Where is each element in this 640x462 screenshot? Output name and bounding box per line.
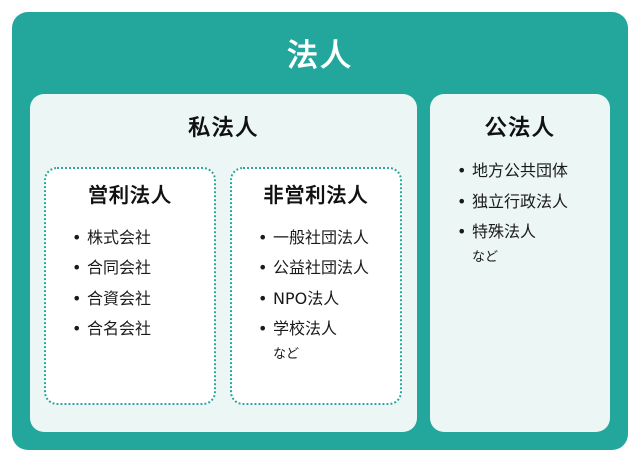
panels-row: 私法人 営利法人 株式会社 合同会社 合資会社 合名会社 — [30, 94, 610, 432]
diagram-canvas: 法人 私法人 営利法人 株式会社 合同会社 合資会社 合名会社 — [0, 0, 640, 462]
subcard-non-profit: 非営利法人 一般社団法人 公益社団法人 NPO法人 学校法人 など — [230, 167, 402, 405]
public-corporation-etc-label: など — [457, 248, 610, 269]
list-item: 一般社団法人 — [258, 223, 400, 253]
list-item: 地方公共団体 — [457, 156, 610, 186]
panel-public-title: 公法人 — [430, 94, 610, 142]
corporation-root-box: 法人 私法人 営利法人 株式会社 合同会社 合資会社 合名会社 — [12, 12, 628, 450]
root-title: 法人 — [12, 38, 628, 75]
list-item: 合名会社 — [72, 314, 214, 344]
public-corporation-list: 地方公共団体 独立行政法人 特殊法人 — [430, 156, 610, 247]
list-item: 公益社団法人 — [258, 253, 400, 283]
list-item: NPO法人 — [258, 284, 400, 314]
list-item: 合同会社 — [72, 253, 214, 283]
subcard-non-profit-title: 非営利法人 — [232, 183, 400, 207]
list-item: 独立行政法人 — [457, 187, 610, 217]
subcard-for-profit-title: 営利法人 — [46, 183, 214, 207]
list-item: 学校法人 — [258, 314, 400, 344]
subcards-row: 営利法人 株式会社 合同会社 合資会社 合名会社 非営利法人 一般社団法人 — [44, 167, 403, 405]
list-item: 特殊法人 — [457, 217, 610, 247]
non-profit-etc-label: など — [258, 345, 400, 366]
panel-private-corporation: 私法人 営利法人 株式会社 合同会社 合資会社 合名会社 — [30, 94, 417, 432]
panel-private-title: 私法人 — [30, 94, 417, 142]
list-item: 合資会社 — [72, 284, 214, 314]
for-profit-list: 株式会社 合同会社 合資会社 合名会社 — [46, 223, 214, 345]
list-item: 株式会社 — [72, 223, 214, 253]
panel-public-corporation: 公法人 地方公共団体 独立行政法人 特殊法人 など — [430, 94, 610, 432]
non-profit-list: 一般社団法人 公益社団法人 NPO法人 学校法人 — [232, 223, 400, 345]
subcard-for-profit: 営利法人 株式会社 合同会社 合資会社 合名会社 — [44, 167, 216, 405]
